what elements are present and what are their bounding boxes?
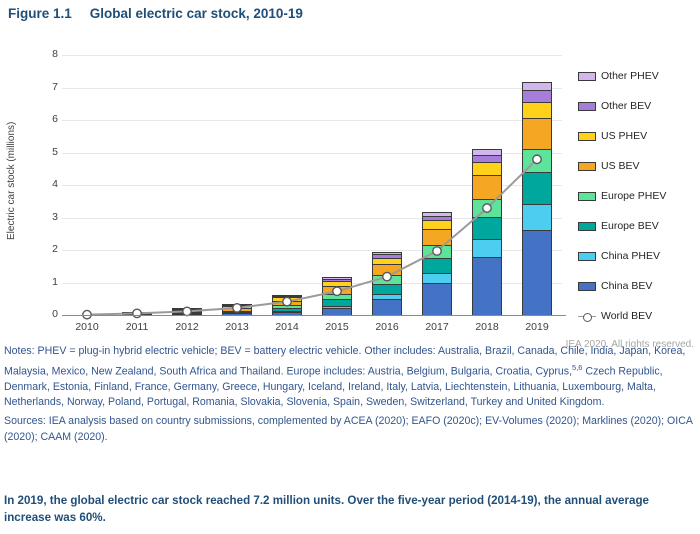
legend-line-marker-icon	[578, 312, 596, 321]
stacked-bar[interactable]	[422, 212, 452, 315]
legend-swatch-icon	[578, 192, 596, 201]
sources-text: Sources: IEA analysis based on country s…	[4, 414, 696, 445]
bar-segment[interactable]	[373, 285, 401, 295]
figure-title: Global electric car stock, 2010-19	[90, 6, 303, 21]
bar-segment[interactable]	[423, 246, 451, 259]
bar-column[interactable]: 2018	[462, 55, 512, 315]
bar-segment[interactable]	[473, 200, 501, 218]
bar-segment[interactable]	[473, 218, 501, 240]
x-axis-tick: 2019	[512, 321, 562, 333]
bar-column[interactable]: 2012	[162, 55, 212, 315]
bar-segment[interactable]	[373, 265, 401, 276]
bar-column[interactable]: 2014	[262, 55, 312, 315]
bar-segment[interactable]	[373, 276, 401, 284]
plot-area: 012345678 201020112012201320142015201620…	[62, 55, 562, 316]
bar-segment[interactable]	[473, 156, 501, 163]
legend-label: Europe BEV	[601, 220, 659, 232]
bar-segment[interactable]	[423, 274, 451, 284]
y-axis-tick: 4	[18, 178, 58, 190]
x-axis-tick: 2012	[162, 321, 212, 333]
legend-swatch-icon	[578, 252, 596, 261]
bar-column[interactable]: 2011	[112, 55, 162, 315]
bar-segment[interactable]	[473, 240, 501, 258]
legend-swatch-icon	[578, 282, 596, 291]
y-axis-tick: 6	[18, 113, 58, 125]
bar-segment[interactable]	[423, 284, 451, 315]
bar-group: 2010201120122013201420152016201720182019	[62, 55, 562, 315]
bar-segment[interactable]	[523, 150, 551, 174]
legend-item-other-bev[interactable]: Other BEV	[578, 91, 700, 121]
footnote-marker: 5,6	[572, 363, 582, 372]
x-axis-tick: 2018	[462, 321, 512, 333]
bar-segment[interactable]	[523, 103, 551, 119]
y-axis-tick: 2	[18, 243, 58, 255]
x-axis-tick: 2014	[262, 321, 312, 333]
bar-column[interactable]: 2013	[212, 55, 262, 315]
legend-label: China PHEV	[601, 250, 660, 262]
legend-label: China BEV	[601, 280, 652, 292]
legend-swatch-icon	[578, 222, 596, 231]
bar-segment[interactable]	[523, 231, 551, 315]
y-axis-tick: 0	[18, 308, 58, 320]
y-axis-tick: 8	[18, 48, 58, 60]
legend-item-china-phev[interactable]: China PHEV	[578, 241, 700, 271]
bar-segment[interactable]	[423, 230, 451, 246]
figure-number: Figure 1.1	[8, 6, 72, 21]
bar-segment[interactable]	[523, 205, 551, 231]
legend-swatch-icon	[578, 132, 596, 141]
legend-swatch-icon	[578, 102, 596, 111]
legend-item-world-bev[interactable]: World BEV	[578, 301, 700, 331]
key-message: In 2019, the global electric car stock r…	[4, 492, 684, 526]
legend-swatch-icon	[578, 162, 596, 171]
y-axis-tick: 5	[18, 146, 58, 158]
notes-text: Notes: PHEV = plug-in hybrid electric ve…	[4, 344, 696, 411]
legend-item-europe-phev[interactable]: Europe PHEV	[578, 181, 700, 211]
legend-item-europe-bev[interactable]: Europe BEV	[578, 211, 700, 241]
bar-segment[interactable]	[423, 221, 451, 230]
bar-segment[interactable]	[423, 259, 451, 274]
chart-container: Electric car stock (millions) 012345678 …	[0, 21, 700, 321]
legend-label: Europe PHEV	[601, 190, 666, 202]
bar-column[interactable]: 2010	[62, 55, 112, 315]
bar-segment[interactable]	[323, 287, 351, 295]
notes-block: Notes: PHEV = plug-in hybrid electric ve…	[4, 344, 696, 445]
x-axis-tick: 2013	[212, 321, 262, 333]
legend-swatch-icon	[578, 72, 596, 81]
legend-label: Other PHEV	[601, 70, 659, 82]
y-axis-tick: 3	[18, 211, 58, 223]
stacked-bar[interactable]	[472, 149, 502, 315]
bar-segment[interactable]	[523, 91, 551, 103]
bar-segment[interactable]	[473, 176, 501, 200]
x-axis-line	[62, 315, 566, 317]
bar-segment[interactable]	[523, 119, 551, 150]
x-axis-tick: 2017	[412, 321, 462, 333]
legend-item-other-phev[interactable]: Other PHEV	[578, 61, 700, 91]
legend-label: US PHEV	[601, 130, 647, 142]
legend-item-china-bev[interactable]: China BEV	[578, 271, 700, 301]
bar-column[interactable]: 2017	[412, 55, 462, 315]
legend-label: Other BEV	[601, 100, 651, 112]
stacked-bar[interactable]	[222, 304, 252, 315]
bar-segment[interactable]	[473, 163, 501, 176]
stacked-bar[interactable]	[322, 277, 352, 315]
legend-label: US BEV	[601, 160, 640, 172]
stacked-bar[interactable]	[372, 252, 402, 315]
x-axis-tick: 2010	[62, 321, 112, 333]
x-axis-tick: 2016	[362, 321, 412, 333]
bar-segment[interactable]	[523, 173, 551, 205]
bar-column[interactable]: 2016	[362, 55, 412, 315]
y-axis-tick: 1	[18, 276, 58, 288]
x-axis-tick: 2011	[112, 321, 162, 333]
bar-column[interactable]: 2019	[512, 55, 562, 315]
bar-segment[interactable]	[373, 300, 401, 315]
bar-segment[interactable]	[523, 83, 551, 92]
legend-item-us-phev[interactable]: US PHEV	[578, 121, 700, 151]
stacked-bar[interactable]	[272, 295, 302, 315]
bar-segment[interactable]	[473, 258, 501, 315]
legend-label: World BEV	[601, 310, 652, 322]
legend-item-us-bev[interactable]: US BEV	[578, 151, 700, 181]
x-axis-tick: 2015	[312, 321, 362, 333]
figure-title-bar: Figure 1.1 Global electric car stock, 20…	[0, 0, 700, 21]
bar-column[interactable]: 2015	[312, 55, 362, 315]
stacked-bar[interactable]	[522, 82, 552, 315]
chart-legend: Other PHEVOther BEVUS PHEVUS BEVEurope P…	[578, 61, 700, 331]
y-axis-tick: 7	[18, 81, 58, 93]
